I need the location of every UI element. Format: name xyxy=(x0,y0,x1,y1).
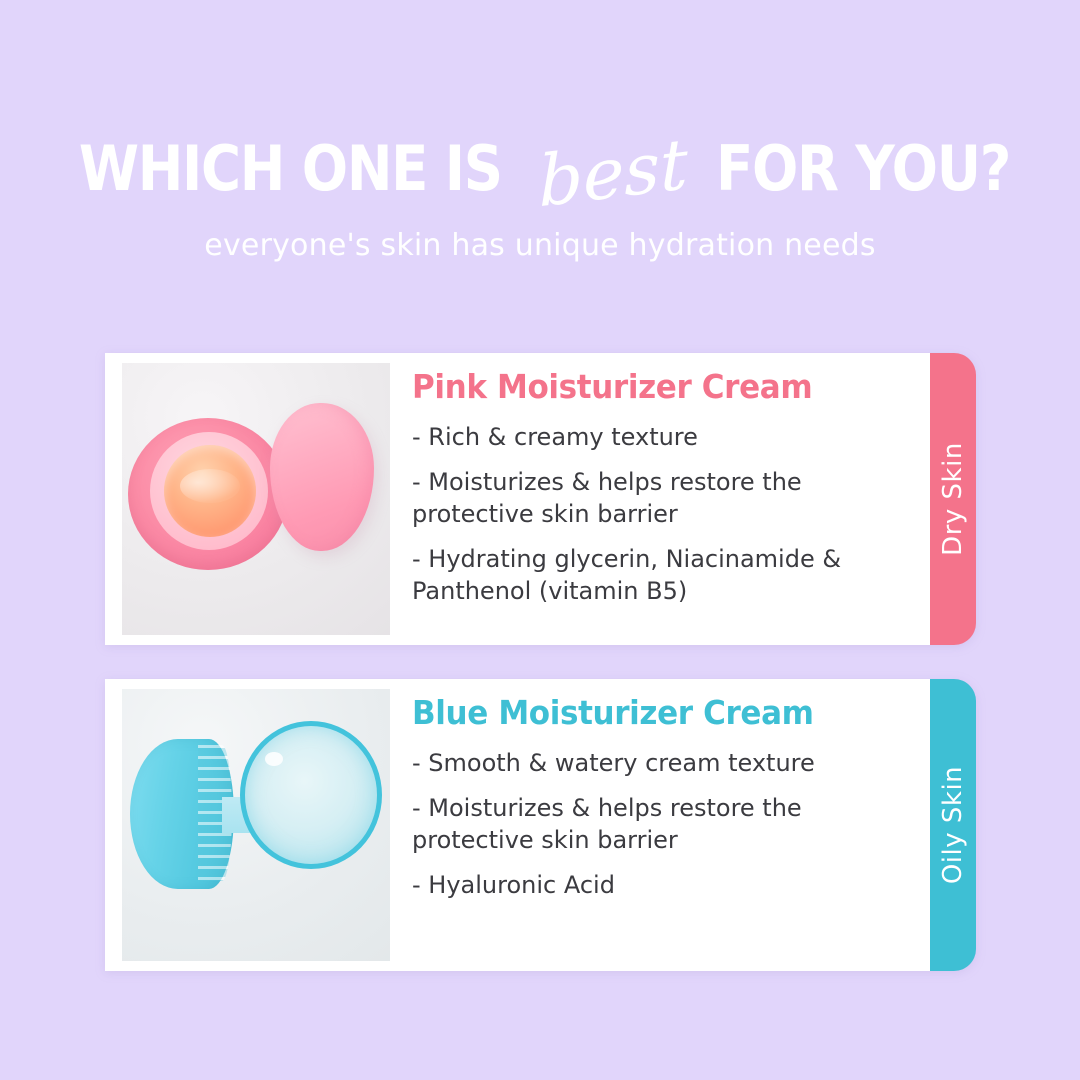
jar-base-shape xyxy=(128,418,288,570)
list-item: - Moisturizes & helps restore the protec… xyxy=(412,467,892,531)
card-text-column: Pink Moisturizer Cream - Rich & creamy t… xyxy=(390,353,930,621)
card-body: Blue Moisturizer Cream - Smooth & watery… xyxy=(105,679,930,971)
jar-inner-shape xyxy=(150,432,268,550)
cream-content-shape xyxy=(164,445,256,537)
headline-text-before: WHICH ONE IS xyxy=(78,138,501,200)
skin-type-tab-dry[interactable]: Dry Skin xyxy=(930,353,976,645)
card-body: Pink Moisturizer Cream - Rich & creamy t… xyxy=(105,353,930,645)
list-item: - Hydrating glycerin, Niacinamide & Pant… xyxy=(412,544,892,608)
card-text-column: Blue Moisturizer Cream - Smooth & watery… xyxy=(390,679,930,915)
product-title: Pink Moisturizer Cream xyxy=(412,367,880,406)
header: WHICH ONE IS best FOR YOU? everyone's sk… xyxy=(0,0,1080,263)
page-title: WHICH ONE IS best FOR YOU? xyxy=(0,132,1080,206)
pink-moisturizer-jar-photo xyxy=(122,363,390,635)
list-item: - Moisturizes & helps restore the protec… xyxy=(412,793,892,857)
page-subtitle: everyone's skin has unique hydration nee… xyxy=(0,228,1080,263)
list-item: - Hyaluronic Acid xyxy=(412,870,892,902)
list-item: - Smooth & watery cream texture xyxy=(412,748,892,780)
blue-moisturizer-jar-photo xyxy=(122,689,390,961)
headline-script-word: best xyxy=(530,128,696,219)
jar-base-shape xyxy=(240,721,382,869)
product-comparison-list: Pink Moisturizer Cream - Rich & creamy t… xyxy=(105,353,975,1005)
product-card-pink[interactable]: Pink Moisturizer Cream - Rich & creamy t… xyxy=(105,353,975,645)
skin-type-tab-label: Dry Skin xyxy=(938,442,968,556)
product-title: Blue Moisturizer Cream xyxy=(412,693,880,732)
list-item: - Rich & creamy texture xyxy=(412,422,892,454)
headline-text-after: FOR YOU? xyxy=(716,138,1010,200)
product-card-blue[interactable]: Blue Moisturizer Cream - Smooth & watery… xyxy=(105,679,975,971)
jar-lid-shape xyxy=(270,403,374,551)
skin-type-tab-label: Oily Skin xyxy=(938,766,968,884)
skin-type-tab-oily[interactable]: Oily Skin xyxy=(930,679,976,971)
